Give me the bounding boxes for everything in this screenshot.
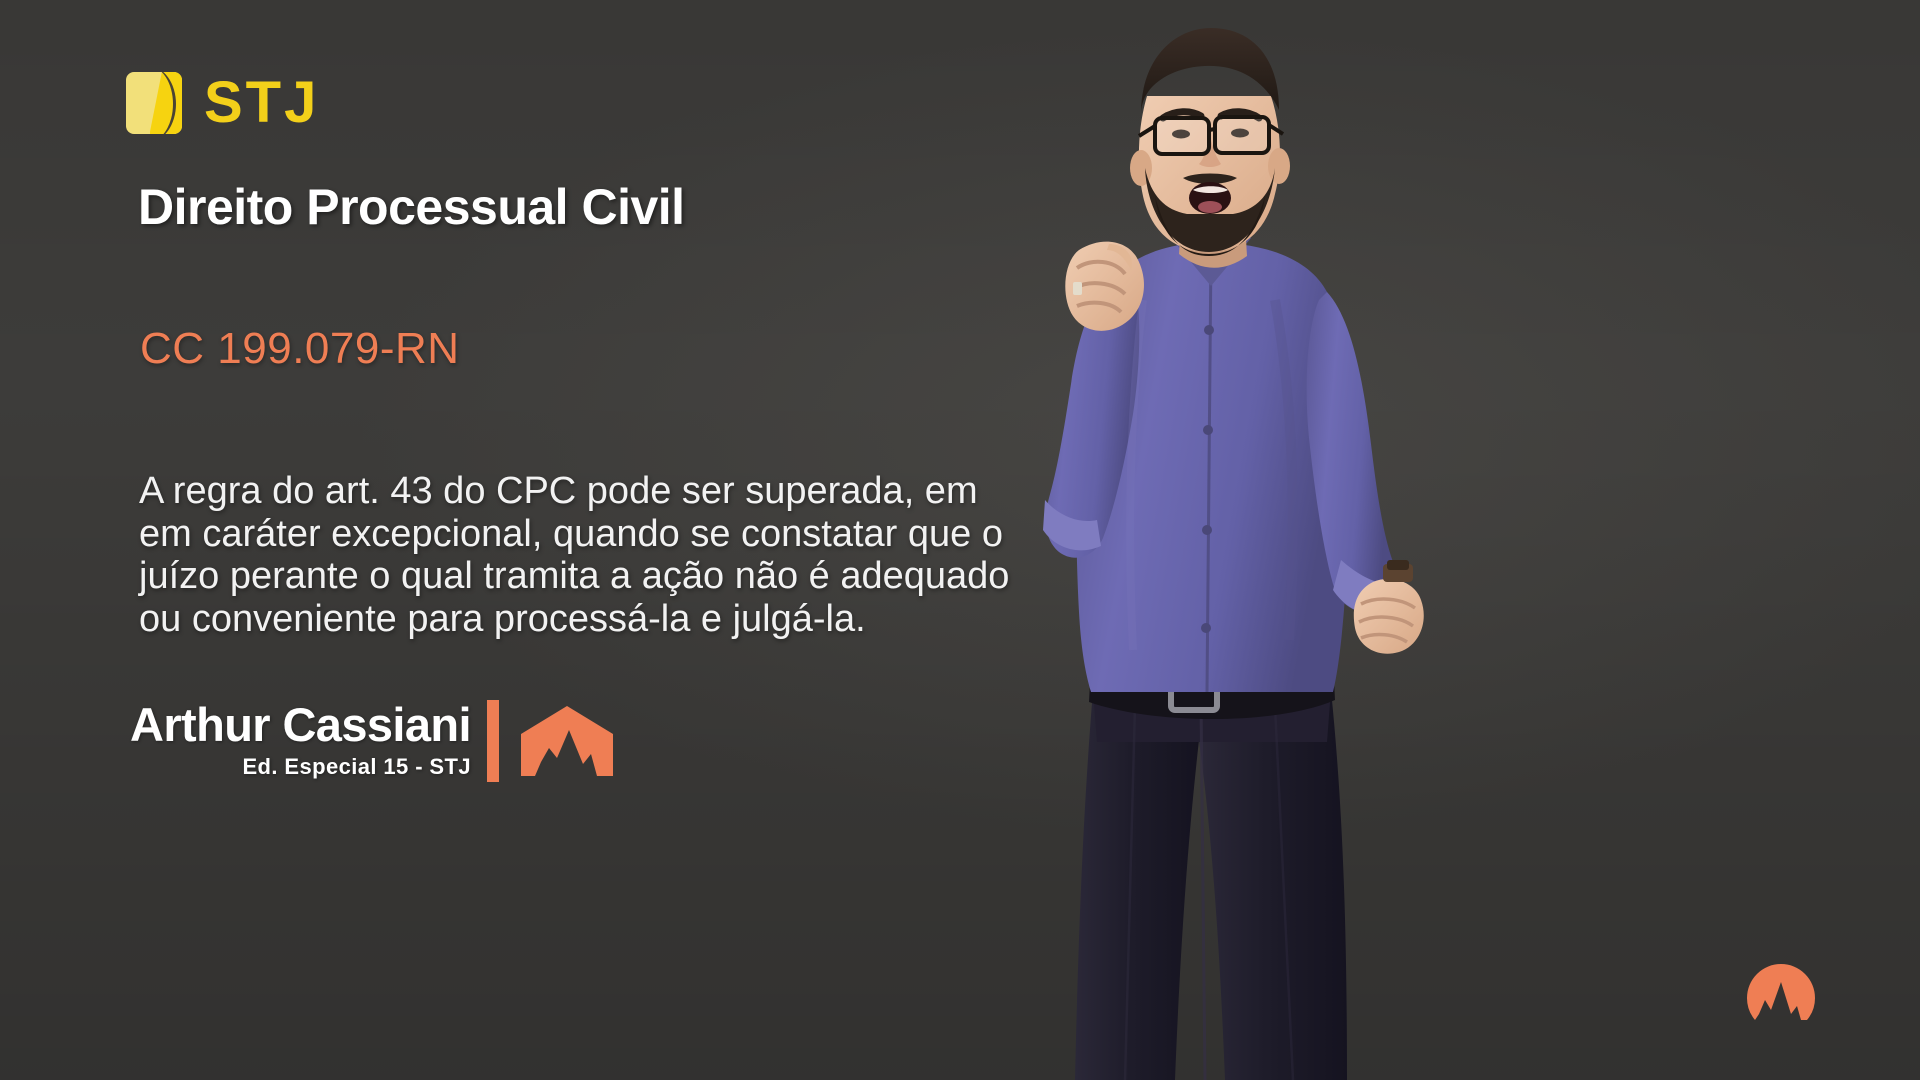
- mountain-peak-icon: [519, 704, 615, 778]
- presenter-name: Arthur Cassiani: [130, 701, 471, 748]
- thesis-line: em caráter excepcional, quando se consta…: [139, 513, 1369, 556]
- case-reference: CC 199.079-RN: [140, 324, 460, 374]
- mountain-circle-watermark-icon[interactable]: [1745, 962, 1817, 1034]
- credit-divider: [487, 700, 499, 782]
- edition-label: Ed. Especial 15 - STJ: [130, 754, 471, 780]
- lower-third-overlay: STJ Direito Processual Civil CC 199.079-…: [0, 0, 1920, 1080]
- discipline-title: Direito Processual Civil: [138, 178, 685, 236]
- stj-acronym: STJ: [204, 74, 319, 132]
- thesis-line: juízo perante o qual tramita a ação não …: [139, 555, 1369, 598]
- video-frame: STJ Direito Processual Civil CC 199.079-…: [0, 0, 1920, 1080]
- thesis-text: A regra do art. 43 do CPC pode ser super…: [139, 470, 1369, 640]
- thesis-line: A regra do art. 43 do CPC pode ser super…: [139, 470, 1369, 513]
- thesis-line: ou conveniente para processá-la e julgá-…: [139, 598, 1369, 641]
- mark-arc-inner: [146, 72, 182, 134]
- presenter-credit-lockup: Arthur Cassiani Ed. Especial 15 - STJ: [130, 700, 615, 782]
- stj-book-mark-icon: [126, 72, 182, 134]
- credit-text-block: Arthur Cassiani Ed. Especial 15 - STJ: [130, 701, 485, 780]
- stj-brand-lockup: STJ: [126, 72, 319, 134]
